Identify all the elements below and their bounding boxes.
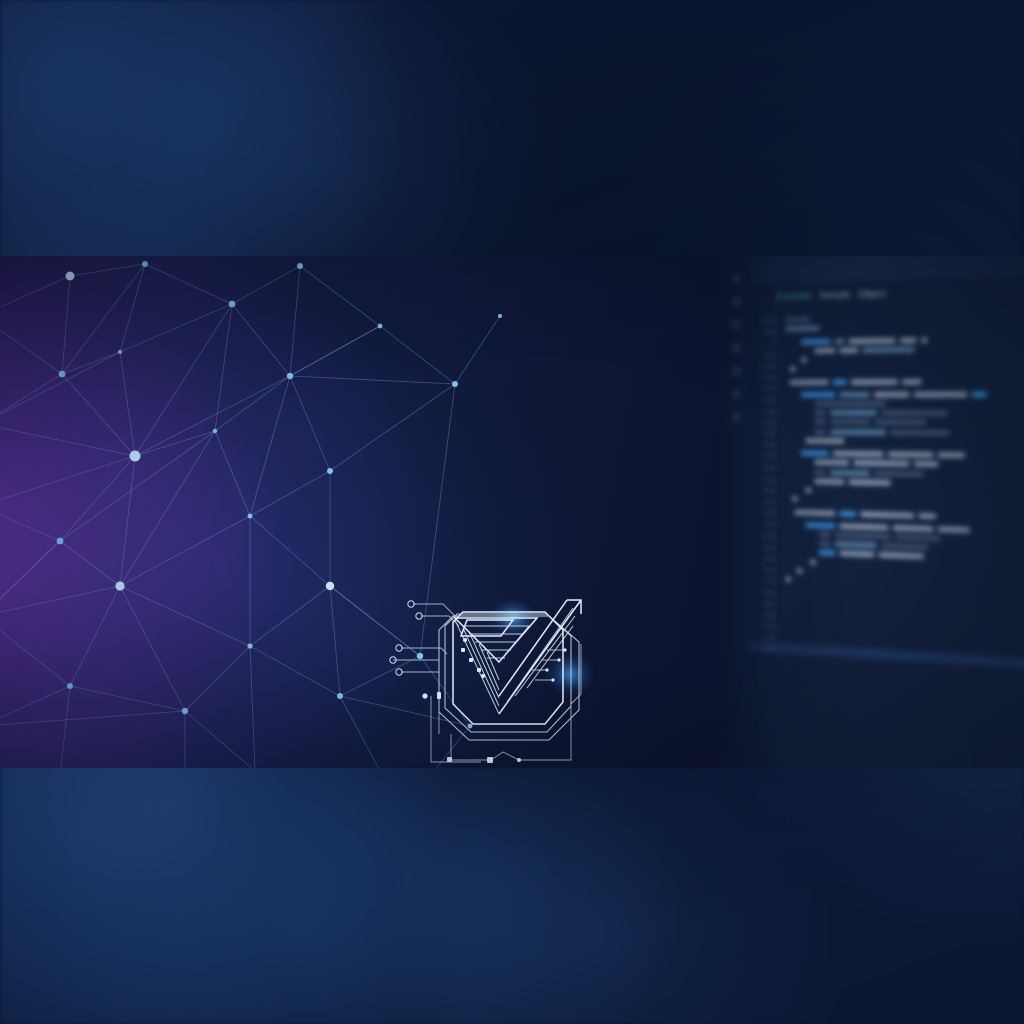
circuit-checkmark-shield-icon [395,584,635,768]
editor-shade-overlay [724,256,1024,768]
code-editor-panel: ◂ File Edit Example Sample Object 150165… [724,256,1024,768]
banner: ◂ File Edit Example Sample Object 150165… [0,256,1024,768]
